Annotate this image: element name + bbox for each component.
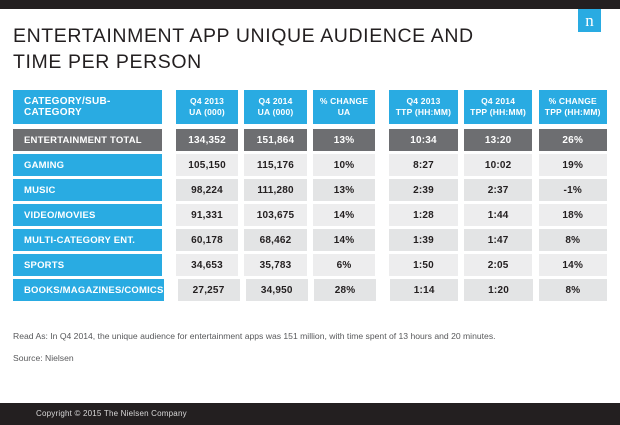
spacer [162,254,176,276]
data-table: CATEGORY/SUB-CATEGORY Q4 2013 UA (000) Q… [13,90,607,304]
header-ua-change-line1: % CHANGE [320,96,368,107]
cell-tpp-change: 14% [539,254,607,276]
cell-ttp-2013: 1:14 [390,279,458,301]
copyright-text: Copyright © 2015 The Nielsen Company [36,406,187,422]
cell-ua-2013: 27,257 [178,279,240,301]
spacer [375,204,389,226]
spacer [375,129,389,151]
cell-ua-change: 13% [313,179,375,201]
spacer [375,154,389,176]
cell-tpp-2014: 2:37 [464,179,532,201]
spacer [162,229,176,251]
header-ttp-2013: Q4 2013 TTP (HH:MM) [389,90,457,124]
header-ua-2014-line2: UA (000) [258,107,294,118]
header-tpp-2014: Q4 2014 TPP (HH:MM) [464,90,532,124]
table-row: MUSIC 98,224 111,280 13% 2:39 2:37 -1% [13,179,607,201]
table-row: ENTERTAINMENT TOTAL 134,352 151,864 13% … [13,129,607,151]
cell-ua-2013: 105,150 [176,154,238,176]
cell-tpp-change: 26% [539,129,607,151]
header-ua-2014: Q4 2014 UA (000) [244,90,306,124]
cell-ua-change: 13% [313,129,375,151]
cell-ttp-2013: 1:50 [389,254,457,276]
spacer [162,204,176,226]
header-tpp-2014-line1: Q4 2014 [481,96,515,107]
cell-ttp-2013: 2:39 [389,179,457,201]
cell-ua-change: 14% [313,229,375,251]
cell-tpp-2014: 13:20 [464,129,532,151]
spacer [375,179,389,201]
cell-ua-2014: 115,176 [244,154,306,176]
row-category: SPORTS [13,254,162,276]
source-note: Source: Nielsen [13,352,74,364]
nielsen-logo-letter: n [585,11,594,30]
cell-tpp-change: 18% [539,204,607,226]
cell-ua-2013: 134,352 [176,129,238,151]
cell-tpp-change: 8% [539,229,607,251]
row-category: MUSIC [13,179,162,201]
cell-ua-2014: 35,783 [244,254,306,276]
spacer [376,279,390,301]
cell-tpp-change: 19% [539,154,607,176]
cell-tpp-change: 8% [539,279,607,301]
header-ua-2013: Q4 2013 UA (000) [176,90,238,124]
cell-tpp-2014: 1:47 [464,229,532,251]
cell-ttp-2013: 8:27 [389,154,457,176]
table-header-row: CATEGORY/SUB-CATEGORY Q4 2013 UA (000) Q… [13,90,607,124]
table-row: SPORTS 34,653 35,783 6% 1:50 2:05 14% [13,254,607,276]
cell-ua-2014: 68,462 [244,229,306,251]
spacer [162,154,176,176]
cell-ua-2014: 151,864 [244,129,306,151]
spacer [375,254,389,276]
cell-ua-2013: 91,331 [176,204,238,226]
cell-ttp-2013: 1:28 [389,204,457,226]
spacer [162,129,176,151]
cell-tpp-2014: 10:02 [464,154,532,176]
header-ua-2014-line1: Q4 2014 [259,96,293,107]
cell-tpp-2014: 2:05 [464,254,532,276]
cell-ua-change: 28% [314,279,376,301]
cell-tpp-change: -1% [539,179,607,201]
top-accent-bar [0,0,620,9]
spacer [375,90,389,124]
header-ua-change: % CHANGE UA [313,90,375,124]
row-category: MULTI-CATEGORY ENT. [13,229,162,251]
spacer [162,179,176,201]
cell-ua-change: 6% [313,254,375,276]
nielsen-logo: n [578,9,601,32]
cell-ua-2014: 34,950 [246,279,308,301]
table-row: BOOKS/MAGAZINES/COMICS 27,257 34,950 28%… [13,279,607,301]
header-tpp-2014-line2: TPP (HH:MM) [470,107,526,118]
page-title: ENTERTAINMENT APP UNIQUE AUDIENCE AND TI… [13,23,553,75]
row-category: BOOKS/MAGAZINES/COMICS [13,279,164,301]
cell-ua-2013: 60,178 [176,229,238,251]
header-tpp-change-line1: % CHANGE [549,96,597,107]
cell-ua-change: 10% [313,154,375,176]
cell-ua-2014: 103,675 [244,204,306,226]
table-row: GAMING 105,150 115,176 10% 8:27 10:02 19… [13,154,607,176]
row-category: GAMING [13,154,162,176]
cell-ua-2013: 34,653 [176,254,238,276]
header-ttp-2013-line2: TTP (HH:MM) [396,107,451,118]
header-ua-2013-line1: Q4 2013 [190,96,224,107]
table-row: VIDEO/MOVIES 91,331 103,675 14% 1:28 1:4… [13,204,607,226]
header-category: CATEGORY/SUB-CATEGORY [13,90,162,124]
cell-ttp-2013: 1:39 [389,229,457,251]
row-category: VIDEO/MOVIES [13,204,162,226]
spacer [162,90,176,124]
row-category: ENTERTAINMENT TOTAL [13,129,162,151]
header-tpp-change: % CHANGE TPP (HH:MM) [539,90,607,124]
header-ttp-2013-line1: Q4 2013 [406,96,440,107]
table-row: MULTI-CATEGORY ENT. 60,178 68,462 14% 1:… [13,229,607,251]
cell-tpp-2014: 1:44 [464,204,532,226]
cell-tpp-2014: 1:20 [464,279,532,301]
cell-ua-change: 14% [313,204,375,226]
cell-ua-2014: 111,280 [244,179,306,201]
cell-ua-2013: 98,224 [176,179,238,201]
spacer [164,279,178,301]
spacer [375,229,389,251]
header-tpp-change-line2: TPP (HH:MM) [545,107,601,118]
cell-ttp-2013: 10:34 [389,129,457,151]
read-as-note: Read As: In Q4 2014, the unique audience… [13,330,608,342]
header-ua-2013-line2: UA (000) [189,107,225,118]
header-ua-change-line2: UA [338,107,351,118]
